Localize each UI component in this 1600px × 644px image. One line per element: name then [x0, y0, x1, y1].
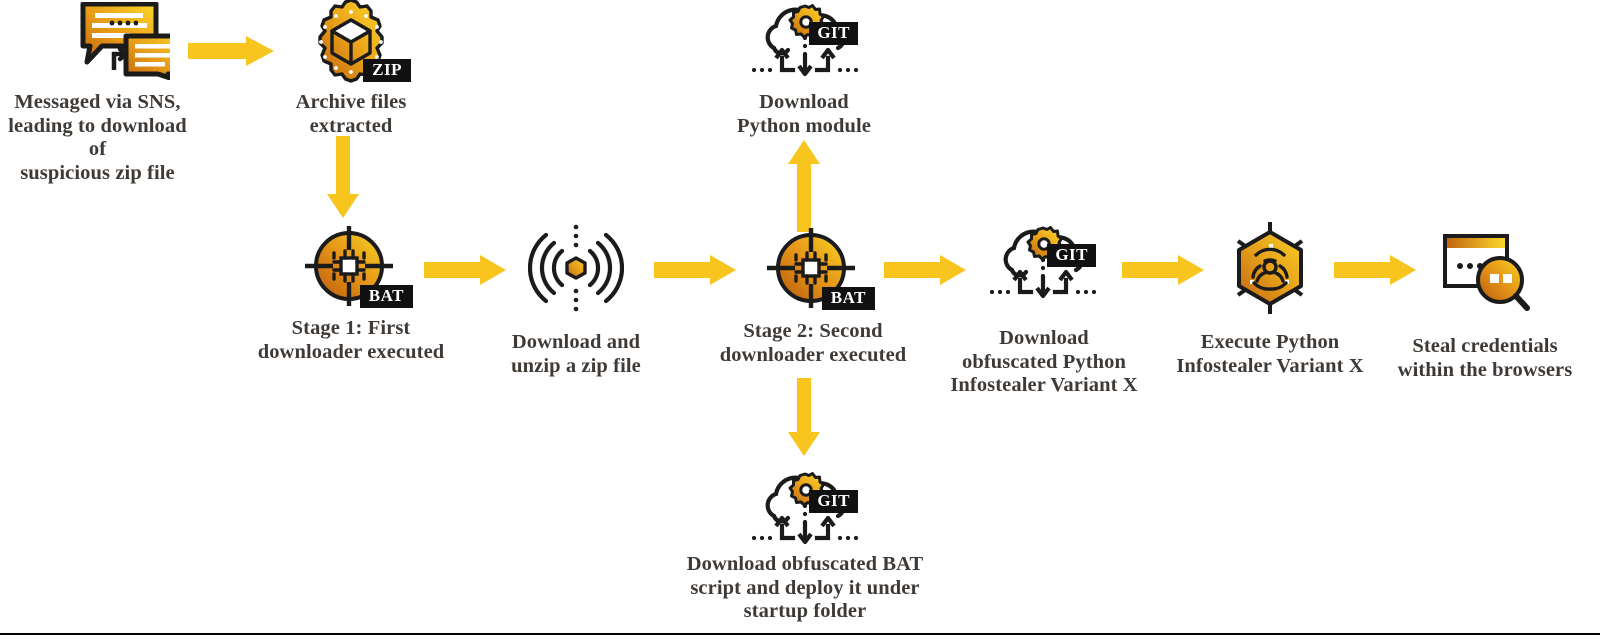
cloud-gear-git-icon: GIT: [746, 0, 864, 80]
node-download-unzip[interactable]: [528, 222, 624, 314]
caption-steal-credentials: Steal credentials within the browsers: [1378, 335, 1592, 382]
arrow-stage2-to-obfuscated-bat: [788, 378, 820, 456]
caption-execute-infostealer: Execute Python Infostealer Variant X: [1160, 331, 1380, 378]
crosshair-bug-icon: BAT: [767, 228, 859, 308]
badge-bat-stage1: BAT: [360, 285, 413, 308]
bottom-divider: [0, 633, 1600, 635]
arrow-stage2-to-obfuscated-python: [884, 255, 966, 285]
badge-git-obfuscated-bat: GIT: [809, 490, 858, 513]
caption-download-unzip: Download and unzip a zip file: [495, 331, 657, 378]
attack-chain-diagram: Messaged via SNS, leading to download of…: [0, 0, 1600, 644]
node-archive-extracted[interactable]: ZIP: [286, 0, 416, 86]
biohazard-hex-icon: [1218, 222, 1322, 314]
caption-download-python-module: Download Python module: [718, 91, 890, 138]
badge-git-obfuscated-python: GIT: [1047, 244, 1096, 267]
badge-bat-stage2: BAT: [822, 287, 875, 310]
arrow-download-to-stage2: [654, 255, 736, 285]
arrow-execute-to-steal: [1334, 255, 1416, 285]
browser-magnifier-icon: [1432, 228, 1536, 312]
arrow-archive-to-stage1: [327, 136, 359, 218]
gear-cube-icon: ZIP: [305, 0, 397, 86]
arrow-stage1-to-download: [424, 255, 506, 285]
node-stage1-downloader[interactable]: BAT: [296, 226, 406, 306]
signal-broadcast-icon: [528, 222, 624, 314]
cloud-gear-git-icon: GIT: [746, 468, 864, 548]
arrow-stage2-to-python-module: [788, 140, 820, 232]
node-download-obfuscated-python[interactable]: GIT: [984, 222, 1102, 302]
badge-zip: ZIP: [363, 59, 411, 82]
caption-stage2-downloader: Stage 2: Second downloader executed: [702, 320, 924, 367]
node-stage2-downloader[interactable]: BAT: [758, 228, 868, 308]
node-execute-infostealer[interactable]: [1218, 222, 1322, 314]
badge-git-python-module: GIT: [809, 22, 858, 45]
typing-dots-icon: [108, 17, 138, 29]
node-download-obfuscated-bat[interactable]: GIT: [746, 468, 864, 548]
caption-sns-message: Messaged via SNS, leading to download of…: [0, 91, 195, 185]
node-steal-credentials[interactable]: [1432, 228, 1536, 312]
crosshair-bug-icon: BAT: [305, 226, 397, 306]
caption-download-obfuscated-python: Download obfuscated Python Infostealer V…: [938, 327, 1150, 398]
caption-stage1-downloader: Stage 1: First downloader executed: [240, 317, 462, 364]
caption-download-obfuscated-bat: Download obfuscated BAT script and deplo…: [680, 553, 930, 624]
caption-archive-extracted: Archive files extracted: [266, 91, 436, 138]
node-download-python-module[interactable]: GIT: [746, 0, 864, 80]
arrow-sns-to-archive: [188, 36, 274, 66]
chat-bubbles-icon: [40, 2, 170, 80]
cloud-gear-git-icon: GIT: [984, 222, 1102, 302]
arrow-obfuscated-python-to-execute: [1122, 255, 1204, 285]
node-sns-message[interactable]: [10, 2, 200, 80]
